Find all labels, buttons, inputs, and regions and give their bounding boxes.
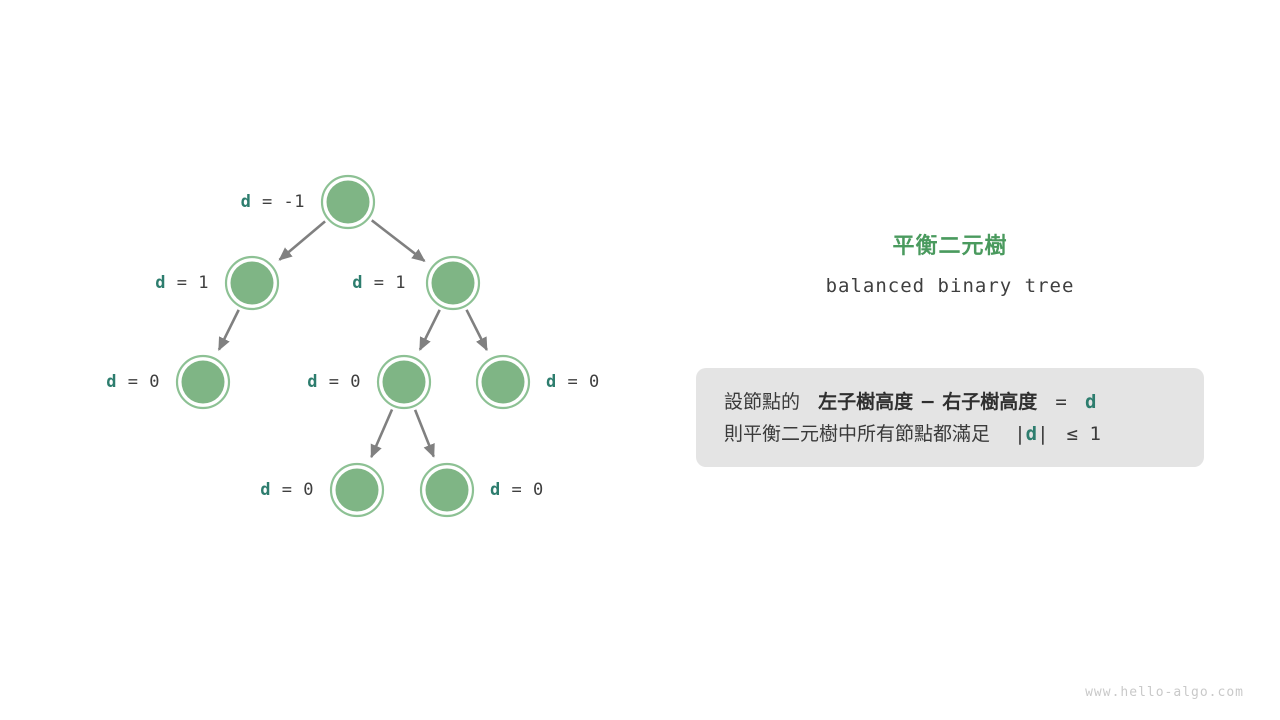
label-variable-d: d (260, 480, 271, 500)
node-fill (482, 361, 525, 404)
definition-line-2: 則平衡二元樹中所有節點都滿足 |d| ≤ 1 (724, 418, 1176, 450)
tree-edges (219, 220, 487, 457)
label-variable-d: d (106, 372, 117, 392)
definition-line-1: 設節點的 左子樹高度 − 右子樹高度 = d (724, 386, 1176, 418)
definition-bold-1: 左子樹高度 − 右子樹高度 (818, 391, 1037, 413)
label-value: = 0 (271, 480, 314, 500)
diagram-canvas: d = -1d = 1d = 1d = 0d = 0d = 0d = 0d = … (0, 0, 1280, 720)
label-value: = 0 (557, 372, 600, 392)
node-balance-label: d = 1 (155, 273, 209, 293)
label-value: = 0 (501, 480, 544, 500)
label-variable-d: d (155, 273, 166, 293)
label-variable-d: d (241, 192, 252, 212)
tree-edge (467, 310, 487, 350)
label-variable-d: d (490, 480, 501, 500)
tree-edge (219, 310, 239, 350)
tree-edge (280, 221, 326, 259)
label-value: = 0 (318, 372, 361, 392)
node-balance-label: d = -1 (241, 192, 305, 212)
site-watermark: www.hello-algo.com (1085, 685, 1244, 700)
node-fill (426, 469, 469, 512)
tree-node[interactable] (421, 464, 473, 516)
definition-variable-d: d (1085, 391, 1096, 413)
label-variable-d: d (352, 273, 363, 293)
node-fill (336, 469, 379, 512)
tree-edge (371, 410, 392, 457)
tree-nodes (177, 176, 529, 516)
node-fill (182, 361, 225, 404)
tree-node[interactable] (427, 257, 479, 309)
node-balance-label: d = 0 (546, 372, 600, 392)
definition-equals: = (1055, 391, 1066, 413)
label-value: = 1 (363, 273, 406, 293)
label-value: = 0 (117, 372, 160, 392)
label-variable-d: d (546, 372, 557, 392)
page-subtitle: balanced binary tree (696, 275, 1204, 297)
node-balance-label: d = 0 (260, 480, 314, 500)
node-fill (383, 361, 426, 404)
abs-bar-close: | (1037, 423, 1048, 445)
tree-edge (415, 410, 434, 457)
abs-bar-open: | (1014, 423, 1025, 445)
tree-node[interactable] (331, 464, 383, 516)
node-balance-label: d = 0 (106, 372, 160, 392)
binary-tree-graphic (0, 0, 1280, 720)
definition-prefix-2: 則平衡二元樹中所有節點都滿足 (724, 423, 990, 445)
definition-relation: ≤ 1 (1067, 423, 1101, 445)
tree-node[interactable] (477, 356, 529, 408)
tree-edge (372, 220, 425, 261)
tree-node[interactable] (177, 356, 229, 408)
label-value: = -1 (251, 192, 305, 212)
page-title: 平衡二元樹 (696, 228, 1204, 260)
tree-node[interactable] (226, 257, 278, 309)
definition-box: 設節點的 左子樹高度 − 右子樹高度 = d 則平衡二元樹中所有節點都滿足 |d… (696, 368, 1204, 467)
node-balance-label: d = 0 (307, 372, 361, 392)
node-fill (327, 181, 370, 224)
tree-node[interactable] (378, 356, 430, 408)
label-variable-d: d (307, 372, 318, 392)
node-balance-label: d = 0 (490, 480, 544, 500)
node-fill (432, 262, 475, 305)
definition-prefix-1: 設節點的 (724, 391, 800, 413)
tree-node[interactable] (322, 176, 374, 228)
definition-variable-d-abs: d (1026, 423, 1037, 445)
label-value: = 1 (166, 273, 209, 293)
tree-edge (420, 310, 440, 350)
node-balance-label: d = 1 (352, 273, 406, 293)
node-fill (231, 262, 274, 305)
